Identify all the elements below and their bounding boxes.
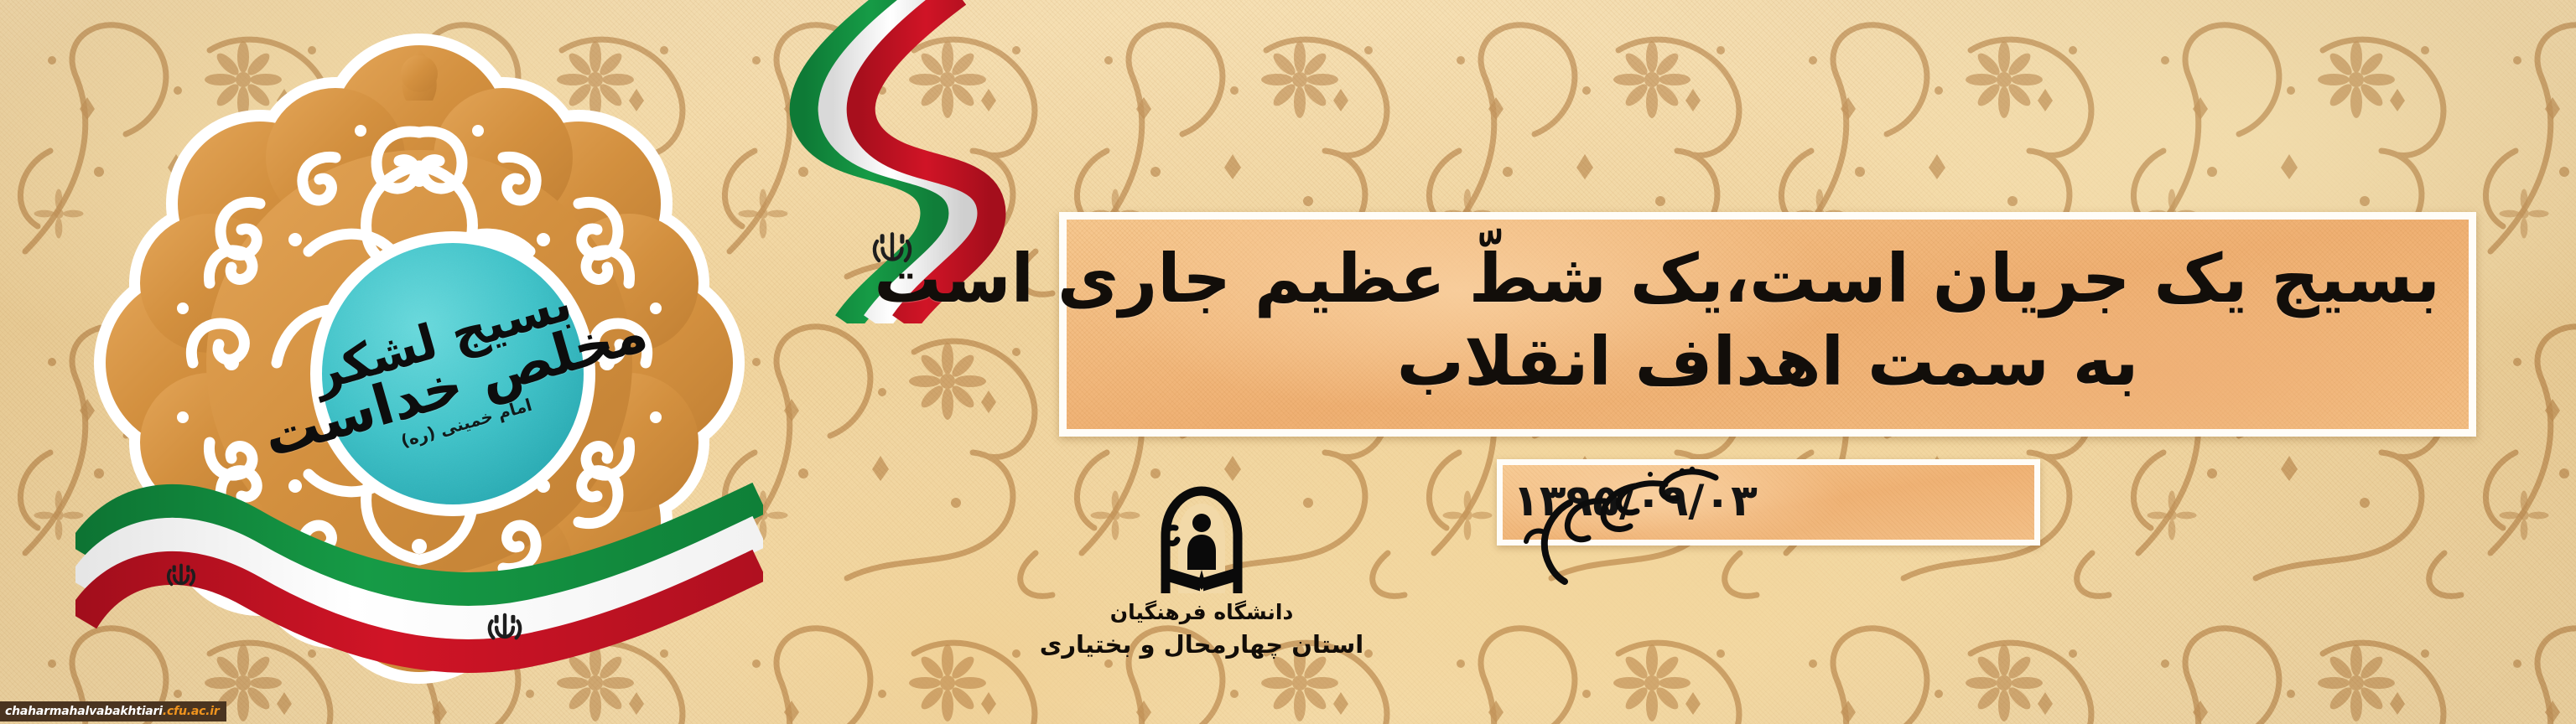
watermark-domain: .cfu.ac.ir (163, 706, 220, 717)
date-text: ۱۳۹۵/۰۹/۰۳ (1513, 479, 1758, 523)
university-name: دانشگاه فرهنگیان (1110, 600, 1294, 624)
watermark-site: chaharmahalvabakhtiari (5, 706, 163, 717)
iran-flag-ribbon-bottom (75, 469, 763, 724)
quote-banner: بسیج یک جریان است،یک شطّ عظیم جاری است ب… (1059, 212, 2476, 437)
date-box: ۱۳۹۵/۰۹/۰۳ (1497, 459, 2040, 546)
university-logo: دانشگاه فرهنگیان استان چهارمحال و بختیار… (1080, 486, 1323, 702)
university-province: استان چهارمحال و بختیاری (1040, 630, 1363, 659)
quote-line-1: بسیج یک جریان است،یک شطّ عظیم جاری است (1095, 240, 2440, 318)
farhangian-university-logo-icon (1150, 486, 1253, 597)
site-watermark: chaharmahalvabakhtiari.cfu.ac.ir (0, 701, 226, 721)
date-box-inner: ۱۳۹۵/۰۹/۰۳ (1503, 465, 2034, 540)
banner-stage: بسیج لشکر مخلص خداست امام خمینی (ره) (0, 0, 2576, 724)
quote-line-2: به سمت اهداف انقلاب (1095, 323, 2440, 401)
quote-banner-inner: بسیج یک جریان است،یک شطّ عظیم جاری است ب… (1067, 220, 2469, 429)
